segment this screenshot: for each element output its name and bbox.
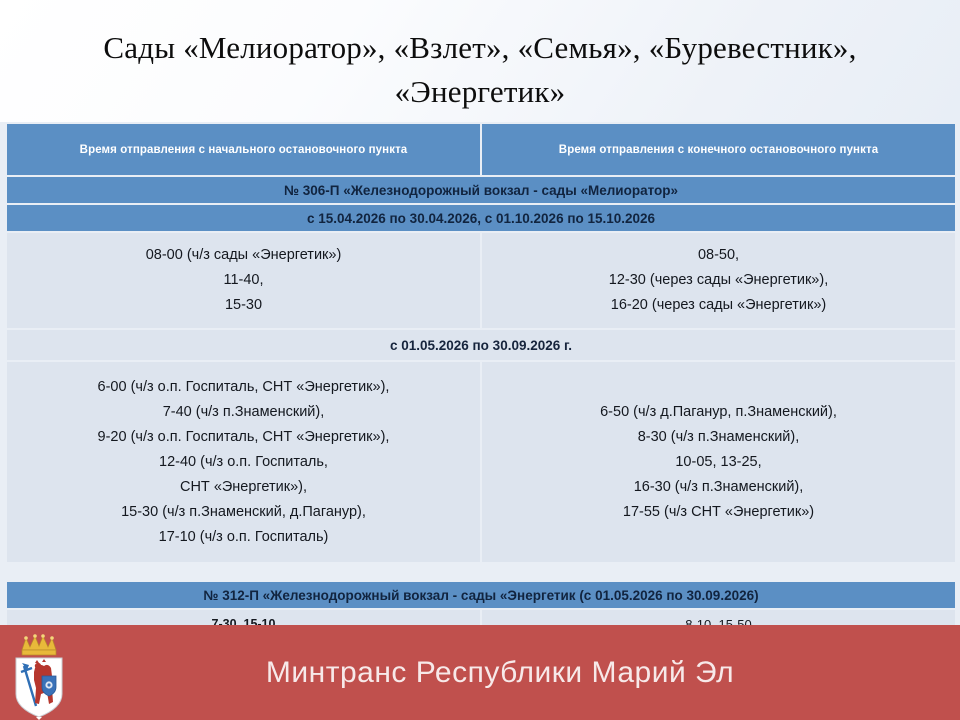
column-header-start: Время отправления с начального остановоч… [7,124,480,175]
table-header-row: Время отправления с начального остановоч… [7,124,955,175]
organization-name: Минтранс Республики Марий Эл [150,625,850,720]
schedule-table-container: Время отправления с начального остановоч… [0,122,960,625]
coat-of-arms-icon [8,632,70,720]
spacer-cell-left [7,564,480,580]
page-title: Сады «Мелиоратор», «Взлет», «Семья», «Бу… [18,26,942,114]
route-title-row: № 312-П «Железнодорожный вокзал - сады «… [7,582,955,608]
table-row: 08-00 (ч/з сады «Энергетик»)11-40,15-30 … [7,233,955,328]
table-spacer [7,564,955,580]
spacer-cell-right [482,564,955,580]
route-period-dates-row: с 15.04.2026 по 30.04.2026, с 01.10.2026… [7,205,955,231]
route-title-312p: № 312-П «Железнодорожный вокзал - сады «… [7,582,955,608]
end-times-period1: 08-50,12-30 (через сады «Энергетик»),16-… [482,233,955,328]
schedule-table: Время отправления с начального остановоч… [5,122,957,640]
start-times-period1: 08-00 (ч/з сады «Энергетик»)11-40,15-30 [7,233,480,328]
title-banner: Сады «Мелиоратор», «Взлет», «Семья», «Бу… [0,0,960,122]
period-dates-summer: с 01.05.2026 по 30.09.2026 г. [7,330,955,360]
route-title-306p: № 306-П «Железнодорожный вокзал - сады «… [7,177,955,203]
table-row: 6-00 (ч/з о.п. Госпиталь, СНТ «Энергетик… [7,362,955,562]
footer-banner: Минтранс Республики Марий Эл [0,625,960,720]
route-period-dates-row: с 01.05.2026 по 30.09.2026 г. [7,330,955,360]
end-times-period2: 6-50 (ч/з д.Паганур, п.Знаменский),8-30 … [482,362,955,562]
column-header-end: Время отправления с конечного остановочн… [482,124,955,175]
start-times-period2: 6-00 (ч/з о.п. Госпиталь, СНТ «Энергетик… [7,362,480,562]
route-title-row: № 306-П «Железнодорожный вокзал - сады «… [7,177,955,203]
period-dates-spring-autumn: с 15.04.2026 по 30.04.2026, с 01.10.2026… [7,205,955,231]
